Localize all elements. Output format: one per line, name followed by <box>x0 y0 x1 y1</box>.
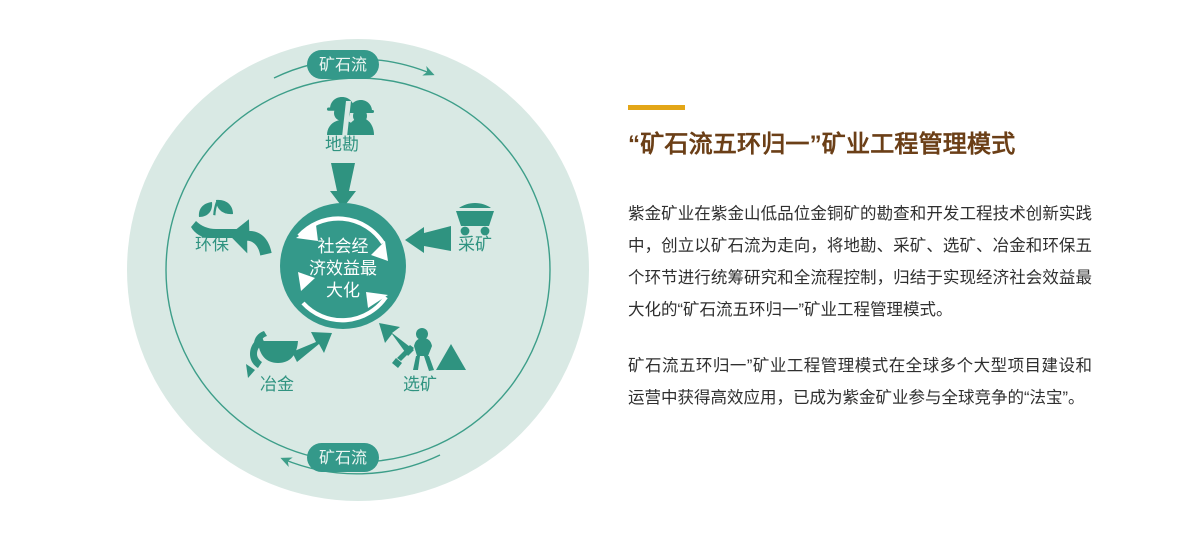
flow-pill-bottom-label: 矿石流 <box>319 449 367 467</box>
article-paragraph: 矿石流五环归一”矿业工程管理模式在全球多个大型项目建设和运营中获得高效应用，已成… <box>628 350 1092 414</box>
node-beneficiation-label: 选矿 <box>403 375 437 394</box>
node-mining-label: 采矿 <box>458 235 492 254</box>
five-ring-diagram: 矿石流 矿石流 <box>0 0 600 551</box>
center-line-2: 济效益最 <box>309 259 377 278</box>
flow-pill-top-label: 矿石流 <box>319 56 367 74</box>
center-line-3: 大化 <box>326 281 360 300</box>
page-root: 矿石流 矿石流 <box>0 0 1200 551</box>
article-panel: “矿石流五环归一”矿业工程管理模式 紫金矿业在紫金山低品位金铜矿的勘查和开发工程… <box>628 0 1108 551</box>
article-paragraph: 紫金矿业在紫金山低品位金铜矿的勘查和开发工程技术创新实践中，创立以矿石流为走向，… <box>628 198 1092 326</box>
node-environment-label: 环保 <box>195 235 229 254</box>
accent-rule <box>628 105 685 110</box>
article-body: 紫金矿业在紫金山低品位金铜矿的勘查和开发工程技术创新实践中，创立以矿石流为走向，… <box>628 198 1092 414</box>
page-title: “矿石流五环归一”矿业工程管理模式 <box>628 128 1108 162</box>
center-line-1: 社会经 <box>318 237 369 256</box>
node-geology-label: 地勘 <box>325 135 359 154</box>
diagram-panel: 矿石流 矿石流 <box>0 0 600 551</box>
node-metallurgy-label: 冶金 <box>260 375 294 394</box>
